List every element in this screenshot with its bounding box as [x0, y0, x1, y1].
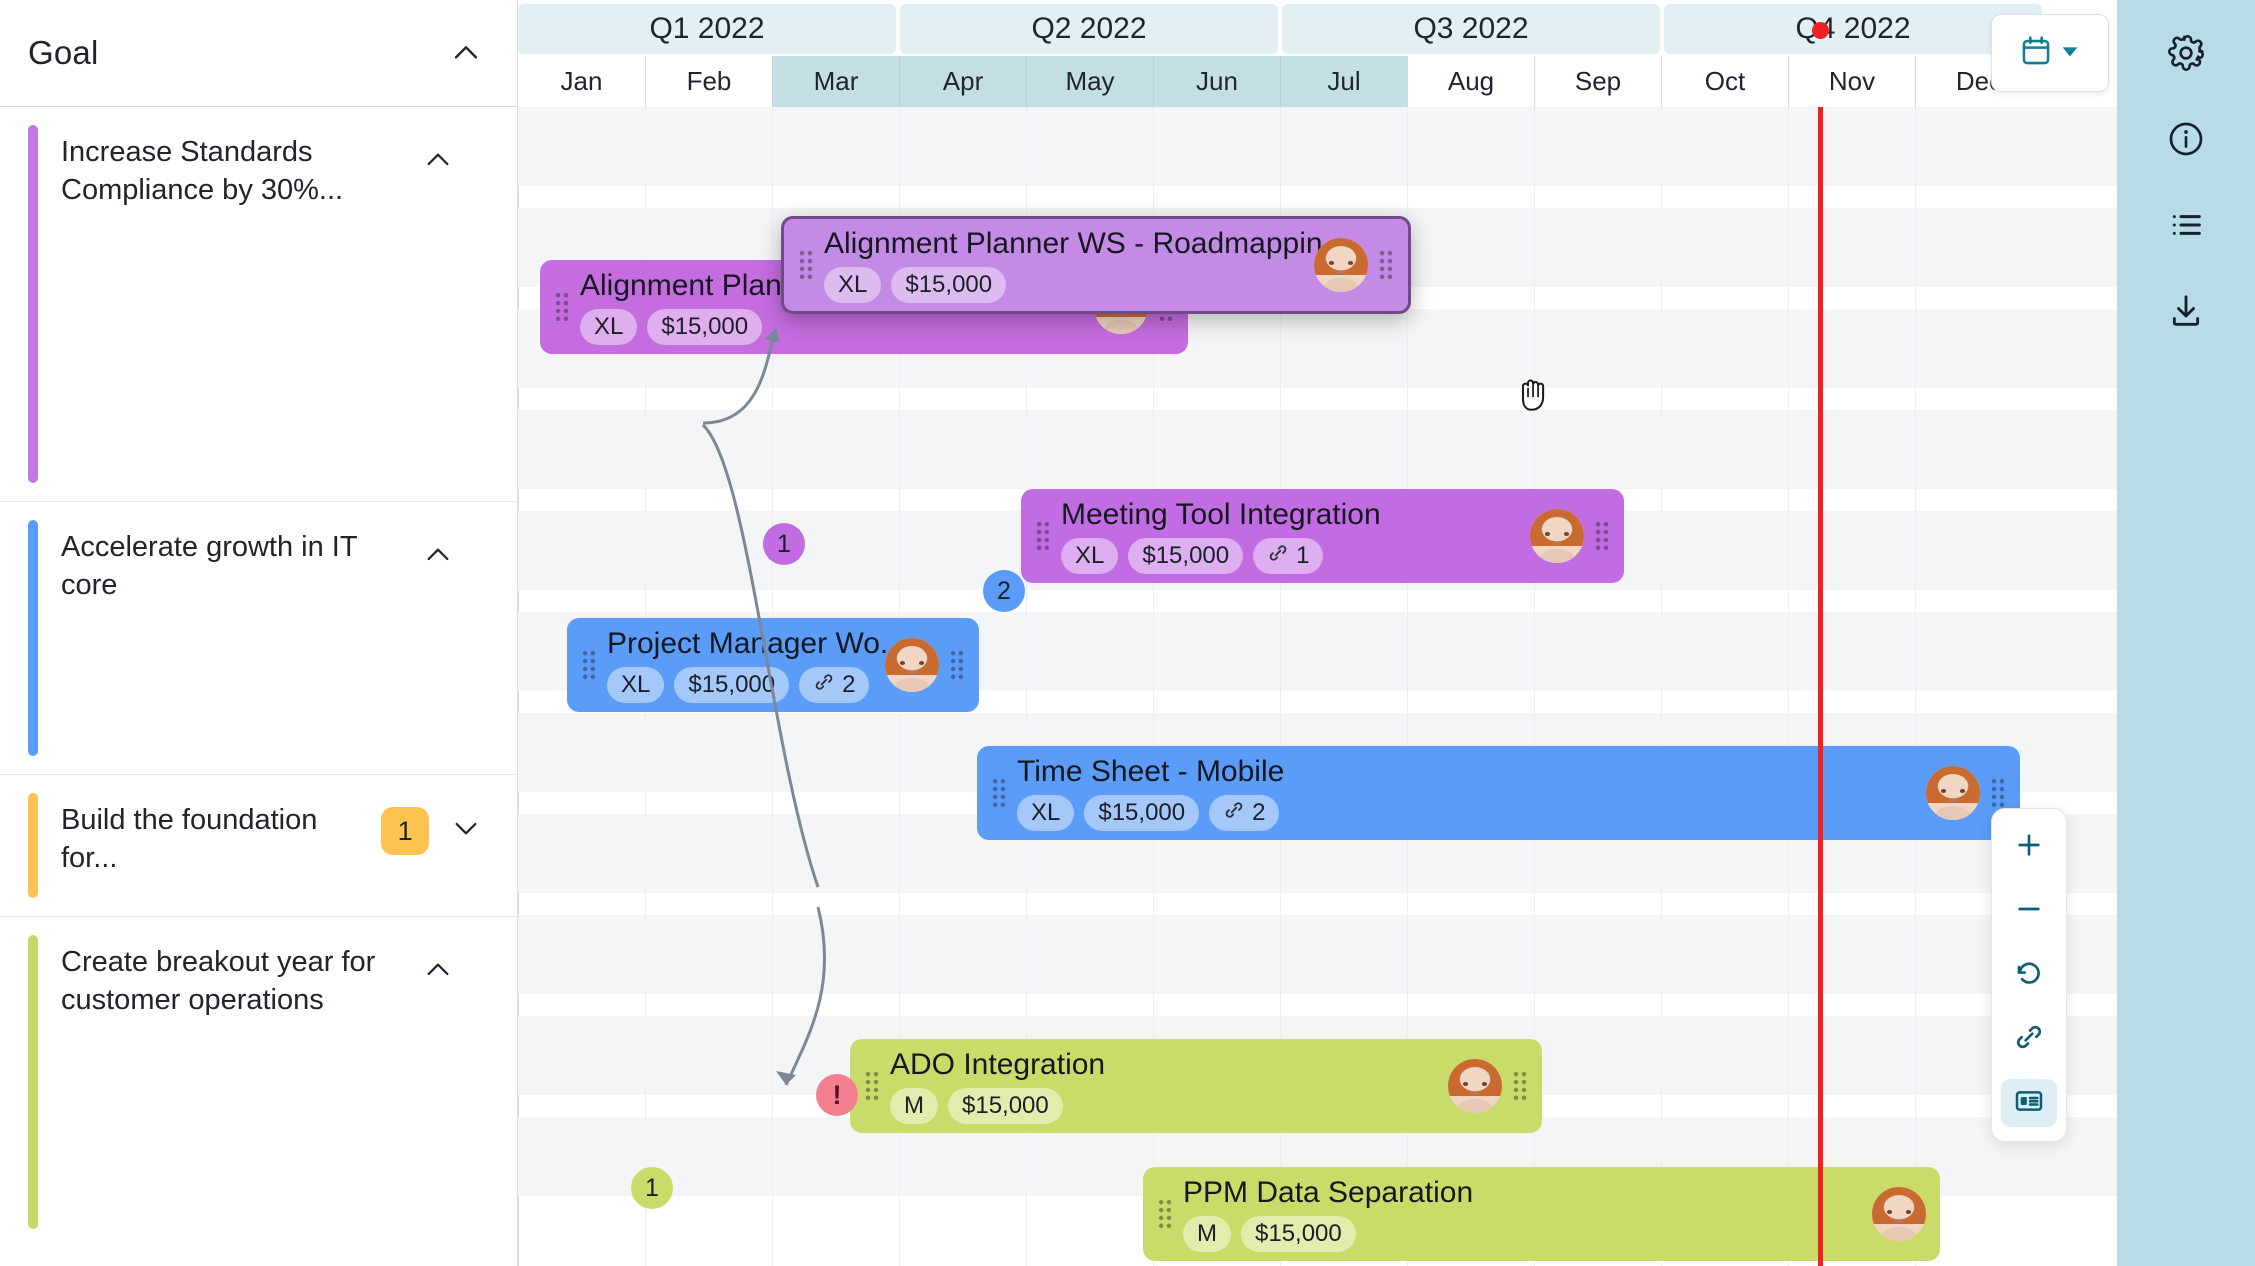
timeline-panel: Q1 2022 Q2 2022 Q3 2022 Q4 2022 Jan Feb …: [518, 0, 2255, 1266]
sidebar-collapse-chevron-up-icon[interactable]: [449, 36, 483, 70]
month-cell-feb[interactable]: Feb: [645, 56, 772, 107]
undo-icon: [2013, 957, 2045, 994]
list-icon: [2166, 205, 2206, 250]
dependency-badge[interactable]: 2: [983, 570, 1025, 612]
grid-line: [1788, 107, 1789, 1266]
cost-chip: $15,000: [674, 667, 789, 703]
row-stripe: [518, 410, 2117, 489]
zoom-in-button[interactable]: [2001, 823, 2057, 871]
roadmap-gantt-app: Goal Increase Standards Compliance by 30…: [0, 0, 2255, 1266]
sidebar-header: Goal: [0, 0, 517, 107]
settings-button[interactable]: [2117, 12, 2255, 98]
plus-icon: [2013, 829, 2045, 866]
size-chip: XL: [824, 267, 881, 303]
drag-handle-left-icon[interactable]: [1035, 519, 1051, 553]
link-count-chip: 2: [1209, 795, 1279, 831]
gantt-bar-meeting-tool-integration[interactable]: Meeting Tool Integration XL $15,000 1: [1021, 489, 1624, 583]
page-title: Goal: [28, 34, 99, 72]
gantt-bar-alignment-planner-drag-preview[interactable]: Alignment Planner WS - Roadmappin XL $15…: [781, 216, 1411, 314]
row-stripe: [518, 915, 2117, 994]
goal-chevron-down-icon[interactable]: [449, 811, 483, 845]
bar-meta: XL $15,000 1: [1061, 538, 1520, 574]
month-cell-nov[interactable]: Nov: [1788, 56, 1915, 107]
drag-handle-left-icon[interactable]: [864, 1069, 880, 1103]
bar-content: PPM Data Separation M $15,000: [1173, 1176, 1862, 1253]
bar-meta: XL $15,000: [580, 309, 1084, 345]
reset-view-button[interactable]: [2001, 951, 2057, 999]
today-marker-dot: [1812, 22, 1829, 39]
gear-icon: [2166, 33, 2206, 78]
card-details-button[interactable]: [2001, 1079, 2057, 1127]
quarter-cell: Q2 2022: [900, 4, 1278, 54]
bar-content: ADO Integration M $15,000: [880, 1048, 1438, 1125]
drag-handle-left-icon[interactable]: [798, 248, 814, 282]
drag-handle-right-icon[interactable]: [1990, 776, 2006, 810]
cost-chip: $15,000: [891, 267, 1006, 303]
download-button[interactable]: [2117, 270, 2255, 356]
list-view-button[interactable]: [2117, 184, 2255, 270]
sidebar-item-increase-standards-compliance[interactable]: Increase Standards Compliance by 30%...: [0, 107, 517, 502]
gantt-bar-ado-integration[interactable]: ADO Integration M $15,000: [850, 1039, 1542, 1133]
link-count-chip: 2: [799, 667, 869, 703]
drag-handle-right-icon[interactable]: [1512, 1069, 1528, 1103]
row-stripe: [518, 107, 2117, 186]
calendar-icon: [2019, 34, 2053, 73]
quarter-cell: Q4 2022: [1664, 4, 2042, 54]
link-icon: [1223, 799, 1245, 828]
month-cell-may[interactable]: May: [1026, 56, 1153, 107]
size-chip: M: [890, 1088, 938, 1124]
avatar[interactable]: [1530, 509, 1584, 563]
quarter-cell: Q3 2022: [1282, 4, 1660, 54]
goal-chevron-up-icon[interactable]: [421, 953, 455, 987]
sidebar-item-create-breakout-year[interactable]: Create breakout year for customer operat…: [0, 917, 517, 1247]
cost-chip: $15,000: [1241, 1216, 1356, 1252]
bar-content: Project Manager Wo. XL $15,000 2: [597, 627, 875, 704]
size-chip: XL: [1061, 538, 1118, 574]
cost-chip: $15,000: [1084, 795, 1199, 831]
gantt-bar-project-manager-wo[interactable]: Project Manager Wo. XL $15,000 2: [567, 618, 979, 712]
bar-title: Alignment Planner WS - Roadmappin: [824, 227, 1304, 261]
today-marker-line: [1818, 107, 1823, 1266]
goal-color-bar: [28, 125, 38, 483]
month-cell-mar[interactable]: Mar: [772, 56, 899, 107]
month-cell-apr[interactable]: Apr: [899, 56, 1026, 107]
month-cell-jun[interactable]: Jun: [1153, 56, 1280, 107]
bar-content: Meeting Tool Integration XL $15,000 1: [1051, 498, 1520, 575]
link-count: 2: [842, 671, 855, 699]
size-chip: XL: [607, 667, 664, 703]
goal-sidebar: Goal Increase Standards Compliance by 30…: [0, 0, 518, 1266]
info-icon: [2166, 119, 2206, 164]
month-cell-sep[interactable]: Sep: [1534, 56, 1661, 107]
goal-chevron-up-icon[interactable]: [421, 538, 455, 572]
goal-color-bar: [28, 935, 38, 1229]
month-cell-oct[interactable]: Oct: [1661, 56, 1788, 107]
dependency-badge[interactable]: 1: [763, 523, 805, 565]
download-icon: [2166, 291, 2206, 336]
canvas-tools-panel: [1991, 808, 2067, 1142]
goal-color-bar: [28, 793, 38, 898]
drag-handle-right-icon[interactable]: [949, 648, 965, 682]
gantt-bar-time-sheet-mobile[interactable]: Time Sheet - Mobile XL $15,000 2: [977, 746, 2020, 840]
info-button[interactable]: [2117, 98, 2255, 184]
month-cell-jul[interactable]: Jul: [1280, 56, 1407, 107]
link-icon: [813, 671, 835, 700]
avatar[interactable]: [1314, 238, 1368, 292]
minus-icon: [2013, 893, 2045, 930]
goal-chevron-up-icon[interactable]: [421, 143, 455, 177]
month-cell-jan[interactable]: Jan: [518, 56, 645, 107]
bar-meta: XL $15,000 2: [1017, 795, 1916, 831]
warning-badge[interactable]: !: [816, 1074, 858, 1116]
avatar[interactable]: [1926, 766, 1980, 820]
date-range-picker-button[interactable]: [1991, 14, 2109, 92]
drag-handle-left-icon[interactable]: [991, 776, 1007, 810]
sidebar-item-label: Increase Standards Compliance by 30%...: [61, 133, 401, 210]
sidebar-item-label: Build the foundation for...: [61, 801, 381, 878]
quarter-cell: Q1 2022: [518, 4, 896, 54]
bar-meta: M $15,000: [1183, 1216, 1862, 1252]
status-badge: 1: [381, 807, 429, 855]
grid-line: [1661, 107, 1662, 1266]
bar-meta: M $15,000: [890, 1088, 1438, 1124]
sidebar-item-label: Accelerate growth in IT core: [61, 528, 401, 605]
bar-title: Time Sheet - Mobile: [1017, 755, 1916, 789]
drag-handle-right-icon[interactable]: [1594, 519, 1610, 553]
bar-title: Meeting Tool Integration: [1061, 498, 1520, 532]
cost-chip: $15,000: [647, 309, 762, 345]
link-count: 1: [1296, 542, 1309, 570]
month-cell-aug[interactable]: Aug: [1407, 56, 1534, 107]
sidebar-item-label: Create breakout year for customer operat…: [61, 943, 401, 1020]
drag-handle-left-icon[interactable]: [554, 290, 570, 324]
size-chip: M: [1183, 1216, 1231, 1252]
zoom-out-button[interactable]: [2001, 887, 2057, 935]
bar-title: Project Manager Wo.: [607, 627, 875, 661]
timeline-canvas[interactable]: Alignment Planner WS - Roadmappin XL $15…: [518, 107, 2117, 1266]
sidebar-item-accelerate-growth-it-core[interactable]: Accelerate growth in IT core: [0, 502, 517, 775]
avatar[interactable]: [885, 638, 939, 692]
size-chip: XL: [1017, 795, 1074, 831]
cost-chip: $15,000: [948, 1088, 1063, 1124]
drag-handle-right-icon[interactable]: [1378, 248, 1394, 282]
avatar[interactable]: [1448, 1059, 1502, 1113]
show-dependencies-button[interactable]: [2001, 1015, 2057, 1063]
drag-handle-left-icon[interactable]: [581, 648, 597, 682]
bar-meta: XL $15,000: [824, 267, 1304, 303]
card-list-icon: [2013, 1085, 2045, 1122]
grid-line: [1915, 107, 1916, 1266]
goal-color-bar: [28, 520, 38, 756]
cost-chip: $15,000: [1128, 538, 1243, 574]
link-icon: [2013, 1021, 2045, 1058]
bar-title: ADO Integration: [890, 1048, 1438, 1082]
right-toolbar: [2117, 0, 2255, 1266]
bar-title: PPM Data Separation: [1183, 1176, 1862, 1210]
timeline-header: Q1 2022 Q2 2022 Q3 2022 Q4 2022 Jan Feb …: [518, 0, 2255, 107]
avatar[interactable]: [1872, 1187, 1926, 1241]
dependency-badge[interactable]: 1: [631, 1167, 673, 1209]
sidebar-item-build-the-foundation[interactable]: Build the foundation for... 1: [0, 775, 517, 917]
link-count-chip: 1: [1253, 538, 1323, 574]
bar-content: Time Sheet - Mobile XL $15,000 2: [1007, 755, 1916, 832]
link-count: 2: [1252, 799, 1265, 827]
link-icon: [1267, 542, 1289, 571]
size-chip: XL: [580, 309, 637, 345]
drag-handle-left-icon[interactable]: [1157, 1197, 1173, 1231]
bar-content: Alignment Planner WS - Roadmappin XL $15…: [814, 227, 1304, 304]
bar-meta: XL $15,000 2: [607, 667, 875, 703]
caret-down-icon: [2059, 40, 2081, 67]
